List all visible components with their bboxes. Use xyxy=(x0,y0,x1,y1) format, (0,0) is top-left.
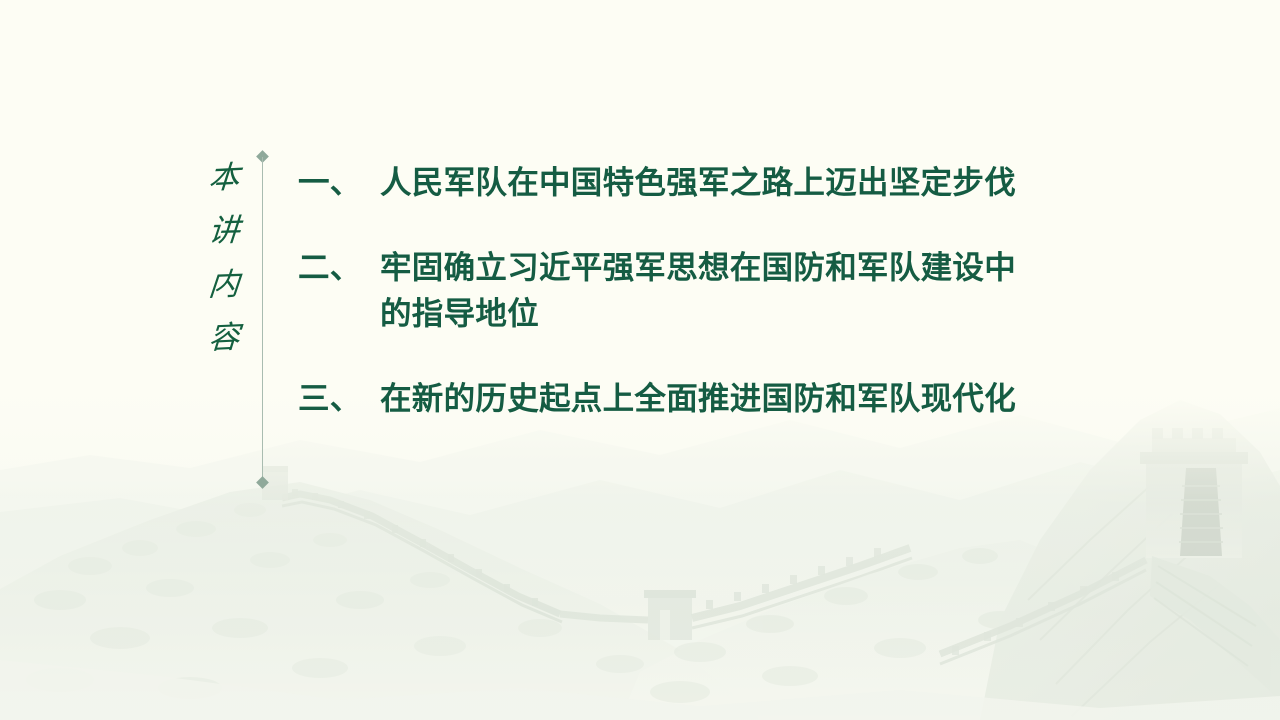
diamond-marker-icon xyxy=(256,476,269,489)
agenda-item-line: 在新的历史起点上全面推进国防和军队现代化 xyxy=(380,376,1178,421)
agenda-item-line: 人民军队在中国特色强军之路上迈出坚定步伐 xyxy=(380,160,1178,205)
list-item: 一、 人民军队在中国特色强军之路上迈出坚定步伐 xyxy=(298,160,1178,205)
agenda-item-line: 牢固确立习近平强军思想在国防和军队建设中 xyxy=(380,245,1178,290)
agenda-item-text: 在新的历史起点上全面推进国防和军队现代化 xyxy=(380,376,1178,421)
list-item: 二、 牢固确立习近平强军思想在国防和军队建设中 的指导地位 xyxy=(298,245,1178,336)
agenda-item-line: 的指导地位 xyxy=(380,291,1178,336)
agenda-item-marker: 三、 xyxy=(298,376,380,421)
vertical-title-char: 讲 xyxy=(196,205,252,260)
agenda-list: 一、 人民军队在中国特色强军之路上迈出坚定步伐 二、 牢固确立习近平强军思想在国… xyxy=(298,160,1178,421)
vertical-title-char: 容 xyxy=(196,311,251,367)
agenda-item-text: 牢固确立习近平强军思想在国防和军队建设中 的指导地位 xyxy=(380,245,1178,336)
agenda-item-marker: 一、 xyxy=(298,160,380,205)
list-item: 三、 在新的历史起点上全面推进国防和军队现代化 xyxy=(298,376,1178,421)
vertical-title-char: 内 xyxy=(196,258,253,313)
agenda-item-marker: 二、 xyxy=(298,245,380,290)
vertical-divider xyxy=(256,150,269,490)
vertical-title-char: 本 xyxy=(196,151,252,207)
agenda-item-text: 人民军队在中国特色强军之路上迈出坚定步伐 xyxy=(380,160,1178,205)
presentation-slide: 本 讲 内 容 一、 人民军队在中国特色强军之路上迈出坚定步伐 二、 牢固确立习… xyxy=(0,0,1280,720)
divider-rule xyxy=(262,157,263,483)
vertical-section-title: 本 讲 内 容 xyxy=(198,152,250,365)
